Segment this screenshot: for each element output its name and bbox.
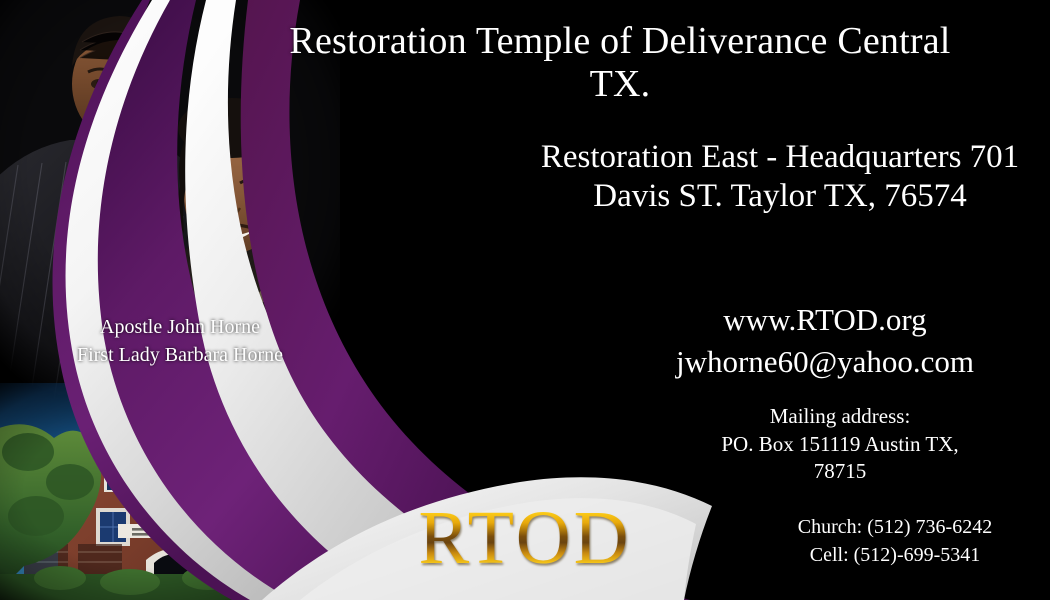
website-url[interactable]: www.RTOD.org: [600, 303, 1050, 338]
pastor-names: Apostle John Horne First Lady Barbara Ho…: [20, 313, 340, 369]
rtod-logo-wordmark: RTOD: [400, 500, 650, 576]
phone-numbers: Church: (512) 736-6242 Cell: (512)-699-5…: [740, 514, 1050, 569]
mailing-address: Mailing address: PO. Box 151119 Austin T…: [630, 403, 1050, 486]
headquarters-address: Restoration East - Headquarters 701 Davi…: [520, 138, 1040, 216]
business-card: Restoration Temple of Deliverance Centra…: [0, 0, 1050, 600]
email-address[interactable]: jwhorne60@yahoo.com: [600, 345, 1050, 380]
organization-title: Restoration Temple of Deliverance Centra…: [270, 20, 970, 105]
